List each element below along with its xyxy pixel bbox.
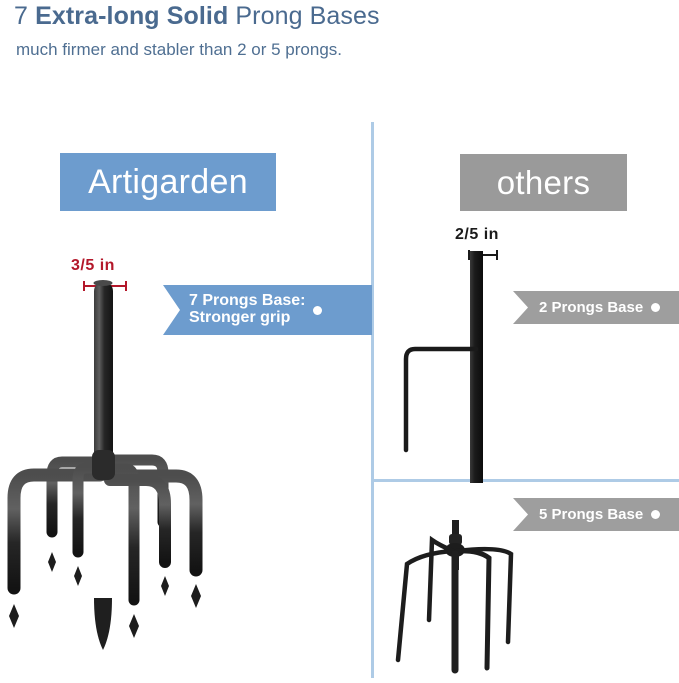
callout-artigarden-label: 7 Prongs Base: Stronger grip <box>189 293 305 327</box>
callout-others-five-label: 5 Prongs Base <box>539 507 643 523</box>
brand-badge-others: others <box>460 154 627 211</box>
bullet-dot-icon <box>651 303 660 312</box>
title-segment-suffix: Prong Bases <box>228 2 379 30</box>
brand-badge-artigarden: Artigarden <box>60 153 276 211</box>
page-title: 7 Extra-long Solid Prong Bases <box>14 2 380 31</box>
callout-others-two: 2 Prongs Base <box>513 291 679 324</box>
infographic-canvas: 7 Extra-long Solid Prong Bases much firm… <box>0 0 679 678</box>
vertical-divider <box>371 122 374 678</box>
others-five-prong-figure <box>395 520 585 678</box>
callout-others-two-label: 2 Prongs Base <box>539 300 643 316</box>
brand-badge-artigarden-label: Artigarden <box>88 163 248 202</box>
title-segment-emphasis: Extra-long Solid <box>35 2 228 30</box>
callout-others-five: 5 Prongs Base <box>513 498 679 531</box>
callout-artigarden: 7 Prongs Base: Stronger grip <box>163 285 372 335</box>
title-segment-prefix: 7 <box>14 2 35 30</box>
page-subtitle: much firmer and stabler than 2 or 5 pron… <box>16 40 342 60</box>
bullet-dot-icon <box>313 306 322 315</box>
others-two-prong-figure <box>392 248 522 483</box>
bullet-dot-icon <box>651 510 660 519</box>
brand-badge-others-label: others <box>497 164 591 202</box>
dimension-others-label: 2/5 in <box>455 226 519 244</box>
